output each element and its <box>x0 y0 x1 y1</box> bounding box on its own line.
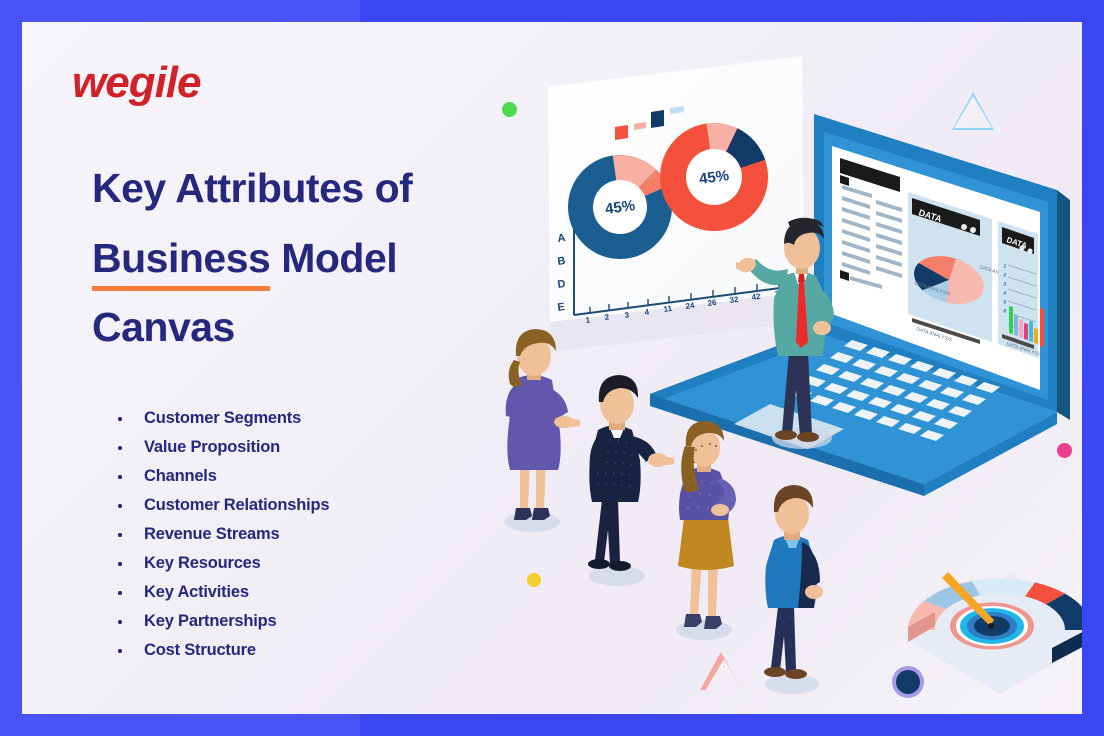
list-item-label: Key Resources <box>144 554 261 572</box>
poster: wegile Key Attributes of Business Model … <box>0 0 1104 736</box>
list-item-label: Customer Segments <box>144 409 301 427</box>
headline-highlight: Business <box>92 224 270 294</box>
attributes-list: Customer Segments Value Proposition Chan… <box>94 404 494 665</box>
list-item: Key Partnerships <box>94 607 494 636</box>
wegile-logo[interactable]: wegile <box>72 58 201 108</box>
figure-woman-mustard-skirt <box>676 421 736 640</box>
isometric-illustration: A B D E 1 2 3 4 11 24 26 32 <box>452 22 1082 714</box>
list-item: Cost Structure <box>94 636 494 665</box>
navy-circle-badge <box>892 666 924 698</box>
laptop-panel-bars: DATA 1 <box>998 221 1044 359</box>
list-item-label: Key Activities <box>144 583 249 601</box>
page-title: Key Attributes of Business Model Canvas <box>92 154 512 363</box>
list-item: Channels <box>94 462 494 491</box>
presentation-board: A B D E 1 2 3 4 11 24 26 32 <box>548 56 804 352</box>
list-item: Revenue Streams <box>94 520 494 549</box>
headline-line-3: Canvas <box>92 304 235 350</box>
headline-line-1: Key Attributes of <box>92 165 412 211</box>
svg-text:32: 32 <box>729 295 740 305</box>
list-item: Customer Segments <box>94 404 494 433</box>
svg-text:42: 42 <box>751 292 762 302</box>
list-item: Key Resources <box>94 549 494 578</box>
svg-text:24: 24 <box>685 301 696 311</box>
gauge-chart <box>892 572 1082 698</box>
list-item-label: Cost Structure <box>144 641 256 659</box>
list-item-label: Channels <box>144 467 217 485</box>
list-item-label: Revenue Streams <box>144 525 280 543</box>
svg-text:26: 26 <box>707 298 718 308</box>
list-item-label: Customer Relationships <box>144 496 329 514</box>
list-item-label: Key Partnerships <box>144 612 277 630</box>
figure-man-blue-vest <box>764 485 823 694</box>
list-item-label: Value Proposition <box>144 438 280 456</box>
list-item: Key Activities <box>94 578 494 607</box>
poster-card: wegile Key Attributes of Business Model … <box>22 22 1082 714</box>
figure-woman-purple-dress <box>504 329 580 532</box>
headline-line-2-rest: Model <box>270 235 397 281</box>
list-item: Customer Relationships <box>94 491 494 520</box>
list-item: Value Proposition <box>94 433 494 462</box>
